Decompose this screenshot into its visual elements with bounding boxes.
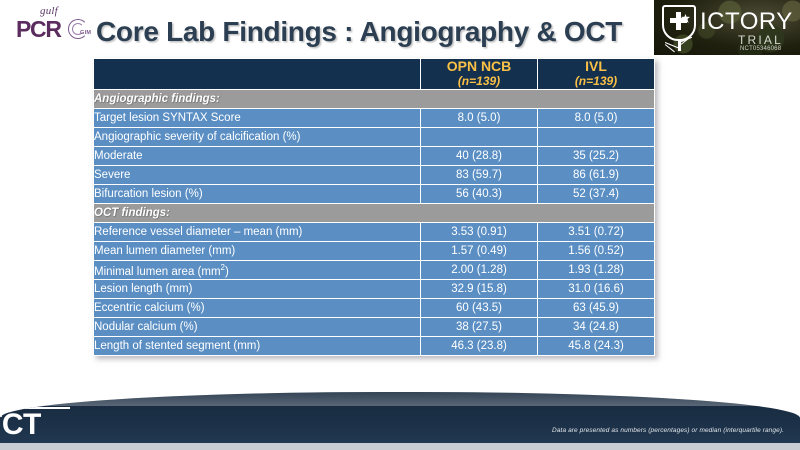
shield-icon xyxy=(662,5,700,49)
row-label: Lesion length (mm) xyxy=(94,280,421,299)
page-title: Core Lab Findings : Angiography & OCT xyxy=(96,16,622,48)
row-label: Minimal lumen area (mm2) xyxy=(94,261,421,280)
table-row: Mean lumen diameter (mm)1.57 (0.49)1.56 … xyxy=(94,242,655,261)
core-lab-findings-table: OPN NCB (n=139) IVL (n=139) Angiographic… xyxy=(93,58,655,356)
nct-registration-number: NCT05346068 xyxy=(740,46,781,52)
cell-opn-ncb xyxy=(421,128,538,147)
trial-subtitle: TRIAL xyxy=(738,33,783,47)
row-label: Nodular calcium (%) xyxy=(94,318,421,337)
table-head: OPN NCB (n=139) IVL (n=139) xyxy=(94,59,655,90)
table-row: Lesion length (mm)32.9 (15.8)31.0 (16.6) xyxy=(94,280,655,299)
footnote-text: Data are presented as numbers (percentag… xyxy=(552,427,784,434)
cell-opn-ncb: 60 (43.5) xyxy=(421,299,538,318)
row-label: Mean lumen diameter (mm) xyxy=(94,242,421,261)
crf-tct-logo: CRF TCT xyxy=(0,394,90,438)
table-row: Reference vessel diameter – mean (mm)3.5… xyxy=(94,223,655,242)
footer-bottom-strip xyxy=(0,443,800,450)
section-label: Angiographic findings: xyxy=(94,90,655,109)
victory-wordmark: ICTORY xyxy=(700,8,793,36)
cell-opn-ncb: 3.53 (0.91) xyxy=(421,223,538,242)
cell-ivl: 3.51 (0.72) xyxy=(538,223,655,242)
cell-ivl: 8.0 (5.0) xyxy=(538,109,655,128)
table-row: Angiographic severity of calcification (… xyxy=(94,128,655,147)
table-row: Eccentric calcium (%)60 (43.5)63 (45.9) xyxy=(94,299,655,318)
column-header-opn-ncb-title: OPN NCB xyxy=(421,59,537,74)
row-label: Moderate xyxy=(94,147,421,166)
gim-label: GIM xyxy=(80,30,91,36)
cell-ivl xyxy=(538,128,655,147)
cell-ivl: 34 (24.8) xyxy=(538,318,655,337)
table-row: Minimal lumen area (mm2)2.00 (1.28)1.93 … xyxy=(94,261,655,280)
cell-opn-ncb: 38 (27.5) xyxy=(421,318,538,337)
cell-ivl: 52 (37.4) xyxy=(538,185,655,204)
cell-ivl: 63 (45.9) xyxy=(538,299,655,318)
pcr-wordmark: PCR xyxy=(16,16,61,43)
section-label: OCT findings: xyxy=(94,204,655,223)
table-row: Nodular calcium (%)38 (27.5)34 (24.8) xyxy=(94,318,655,337)
table-section-row: Angiographic findings: xyxy=(94,90,655,109)
column-header-opn-ncb: OPN NCB (n=139) xyxy=(421,59,538,90)
table-body: Angiographic findings:Target lesion SYNT… xyxy=(94,90,655,356)
row-label: Bifurcation lesion (%) xyxy=(94,185,421,204)
column-header-ivl: IVL (n=139) xyxy=(538,59,655,90)
row-label: Reference vessel diameter – mean (mm) xyxy=(94,223,421,242)
tct-wordmark: TCT xyxy=(0,408,41,442)
cell-ivl: 35 (25.2) xyxy=(538,147,655,166)
row-label: Eccentric calcium (%) xyxy=(94,299,421,318)
crf-wordmark: CRF xyxy=(0,394,12,405)
cell-opn-ncb: 83 (59.7) xyxy=(421,166,538,185)
column-header-ivl-n: (n=139) xyxy=(538,74,654,89)
column-header-opn-ncb-n: (n=139) xyxy=(421,74,537,89)
header-row: OPN NCB (n=139) IVL (n=139) xyxy=(94,59,655,90)
row-label: Angiographic severity of calcification (… xyxy=(94,128,421,147)
cell-opn-ncb: 1.57 (0.49) xyxy=(421,242,538,261)
table-row: Moderate40 (28.8)35 (25.2) xyxy=(94,147,655,166)
table-row: Target lesion SYNTAX Score8.0 (5.0)8.0 (… xyxy=(94,109,655,128)
table-row: Severe83 (59.7)86 (61.9) xyxy=(94,166,655,185)
cell-ivl: 31.0 (16.6) xyxy=(538,280,655,299)
column-header-label xyxy=(94,59,421,90)
roots-icon xyxy=(663,37,695,51)
cell-ivl: 86 (61.9) xyxy=(538,166,655,185)
table-row: Length of stented segment (mm)46.3 (23.8… xyxy=(94,337,655,356)
cell-opn-ncb: 2.00 (1.28) xyxy=(421,261,538,280)
gulf-pcr-logo: gulf PCR GIM xyxy=(14,4,100,48)
table-section-row: OCT findings: xyxy=(94,204,655,223)
cell-opn-ncb: 8.0 (5.0) xyxy=(421,109,538,128)
cell-opn-ncb: 40 (28.8) xyxy=(421,147,538,166)
cell-opn-ncb: 32.9 (15.8) xyxy=(421,280,538,299)
cell-ivl: 45.8 (24.3) xyxy=(538,337,655,356)
row-label: Target lesion SYNTAX Score xyxy=(94,109,421,128)
row-label: Length of stented segment (mm) xyxy=(94,337,421,356)
footer-sheen xyxy=(0,392,800,406)
cell-opn-ncb: 46.3 (23.8) xyxy=(421,337,538,356)
footer-band: CRF TCT Data are presented as numbers (p… xyxy=(0,392,800,450)
victory-trial-logo: ICTORY TRIAL NCT05346068 xyxy=(654,0,800,55)
row-label: Severe xyxy=(94,166,421,185)
cell-opn-ncb: 56 (40.3) xyxy=(421,185,538,204)
cell-ivl: 1.93 (1.28) xyxy=(538,261,655,280)
slide-canvas: gulf PCR GIM Core Lab Findings : Angiogr… xyxy=(0,0,800,450)
cell-ivl: 1.56 (0.52) xyxy=(538,242,655,261)
table-row: Bifurcation lesion (%)56 (40.3)52 (37.4) xyxy=(94,185,655,204)
column-header-ivl-title: IVL xyxy=(538,59,654,74)
